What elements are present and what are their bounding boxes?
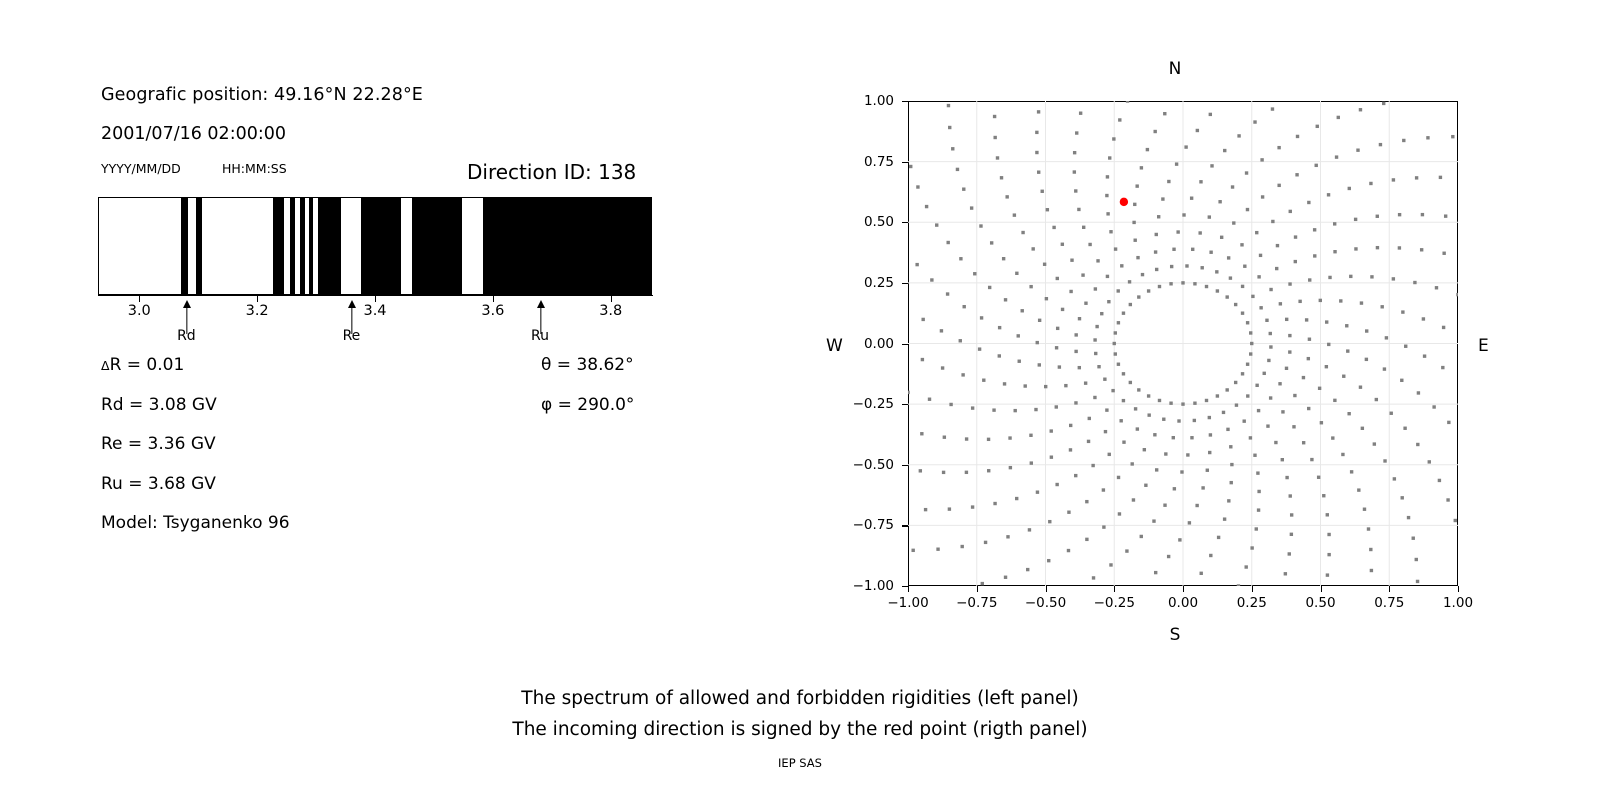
direction-dot xyxy=(1335,155,1338,158)
param-ru: Ru = 3.68 GV xyxy=(101,474,216,494)
direction-dot xyxy=(1006,535,1009,538)
x-axis-tick-label: −0.25 xyxy=(1094,595,1135,611)
direction-dot xyxy=(1447,421,1450,424)
forbidden-band xyxy=(273,197,284,295)
direction-dot xyxy=(1279,302,1282,305)
footer-text: IEP SAS xyxy=(0,756,1600,770)
direction-dot xyxy=(1117,321,1120,324)
direction-dot xyxy=(1070,259,1073,262)
direction-dot xyxy=(1029,434,1032,437)
direction-dot xyxy=(1227,499,1230,502)
direction-dot xyxy=(1439,176,1442,179)
direction-dot xyxy=(1021,231,1024,234)
direction-dot xyxy=(1401,310,1404,313)
incoming-direction-marker xyxy=(1120,198,1128,206)
direction-dot xyxy=(1230,463,1233,466)
direction-dot xyxy=(1222,411,1225,414)
direction-dot xyxy=(1432,405,1435,408)
direction-dot xyxy=(1084,381,1087,384)
direction-dot xyxy=(970,206,973,209)
direction-dot xyxy=(1134,239,1137,242)
direction-dot xyxy=(1225,388,1228,391)
direction-dot xyxy=(1288,350,1291,353)
direction-dot xyxy=(1091,464,1094,467)
direction-dot xyxy=(1246,208,1249,211)
direction-dot xyxy=(1401,496,1404,499)
direction-dot xyxy=(908,391,910,394)
direction-dot xyxy=(1356,148,1359,151)
x-axis-tick-label: 0.75 xyxy=(1374,595,1404,611)
direction-dot xyxy=(1177,419,1180,422)
direction-dot xyxy=(1209,251,1212,254)
x-axis-tick xyxy=(908,586,909,592)
direction-dot xyxy=(1024,384,1027,387)
direction-dot xyxy=(1319,299,1322,302)
direction-dot xyxy=(1328,276,1331,279)
direction-dot xyxy=(1288,552,1291,555)
direction-dot xyxy=(1350,470,1353,473)
direction-dot xyxy=(1163,112,1166,115)
direction-dot xyxy=(1038,363,1041,366)
direction-dot xyxy=(1021,309,1024,312)
direction-dot xyxy=(1005,195,1008,198)
direction-dot xyxy=(1137,295,1140,298)
direction-dot xyxy=(1205,285,1208,288)
direction-dot xyxy=(911,549,914,552)
scatter-canvas xyxy=(908,101,1458,586)
direction-dot xyxy=(1106,212,1109,215)
spectrum-tick-label: 3.2 xyxy=(246,303,269,319)
direction-dot xyxy=(1246,321,1249,324)
direction-dot xyxy=(1178,538,1181,541)
direction-dot xyxy=(1325,320,1328,323)
y-axis-tick-label: 0.50 xyxy=(830,214,894,230)
direction-dot xyxy=(996,156,999,159)
direction-dot xyxy=(1132,498,1135,501)
direction-dot xyxy=(1251,295,1254,298)
direction-dot xyxy=(1241,372,1244,375)
direction-dot xyxy=(1376,246,1379,249)
direction-dot xyxy=(1255,384,1258,387)
y-axis-tick xyxy=(902,101,908,102)
direction-dot xyxy=(1209,113,1212,116)
direction-dot xyxy=(1345,324,1348,327)
direction-dot xyxy=(1038,319,1041,322)
direction-dot xyxy=(1263,372,1266,375)
direction-dot xyxy=(1118,118,1121,121)
direction-dot xyxy=(1269,345,1272,348)
direction-dot xyxy=(1327,533,1330,536)
spectrum-marker-label-rd: Rd xyxy=(177,328,196,344)
direction-dot xyxy=(1381,305,1384,308)
direction-dot xyxy=(946,292,949,295)
direction-dot xyxy=(1271,220,1274,223)
direction-dot xyxy=(1456,293,1458,296)
direction-dot xyxy=(1035,131,1038,134)
direction-dot xyxy=(1243,419,1246,422)
direction-dot xyxy=(1015,497,1018,500)
direction-dot xyxy=(1201,266,1204,269)
direction-dot xyxy=(1316,125,1319,128)
direction-dot xyxy=(1361,427,1364,430)
direction-dot xyxy=(1044,385,1047,388)
direction-dot xyxy=(921,318,924,321)
direction-dot xyxy=(1031,247,1034,250)
direction-dot xyxy=(1103,378,1106,381)
gridline-group xyxy=(908,101,1458,586)
direction-dot xyxy=(1009,466,1012,469)
direction-dot xyxy=(1028,528,1031,531)
direction-dot xyxy=(1144,484,1147,487)
direction-dot xyxy=(1190,197,1193,200)
direction-dot xyxy=(1382,102,1385,105)
direction-dot xyxy=(1126,101,1129,103)
direction-dot xyxy=(1285,476,1288,479)
direction-dot xyxy=(1451,135,1454,138)
direction-dot xyxy=(1026,568,1029,571)
direction-dot xyxy=(1155,468,1158,471)
direction-dot xyxy=(1354,247,1357,250)
direction-dot xyxy=(1315,164,1318,167)
direction-dot xyxy=(1278,382,1281,385)
direction-dot xyxy=(1201,486,1204,489)
direction-dot xyxy=(1237,134,1240,137)
direction-dot xyxy=(1074,401,1077,404)
direction-dot xyxy=(1108,453,1111,456)
direction-dot xyxy=(1416,580,1419,583)
direction-dot xyxy=(1064,384,1067,387)
direction-dot xyxy=(1308,278,1311,281)
direction-dot xyxy=(1289,210,1292,213)
direction-dot xyxy=(1274,441,1277,444)
direction-dot xyxy=(1081,273,1084,276)
direction-dot xyxy=(1112,137,1115,140)
direction-dot xyxy=(1269,288,1272,291)
direction-dot xyxy=(1191,248,1194,251)
direction-dot xyxy=(1367,527,1370,530)
direction-dot xyxy=(1074,350,1077,353)
direction-dot xyxy=(1134,407,1137,410)
direction-dot xyxy=(956,168,959,171)
direction-dot xyxy=(1096,259,1099,262)
direction-dot xyxy=(1420,248,1423,251)
direction-dot xyxy=(1276,244,1279,247)
forbidden-band xyxy=(300,197,305,295)
direction-dot xyxy=(1196,129,1199,132)
direction-dot xyxy=(1256,471,1259,474)
direction-dot xyxy=(1158,285,1161,288)
direction-dot xyxy=(1266,424,1269,427)
direction-dot xyxy=(1326,573,1329,576)
direction-dot xyxy=(924,508,927,511)
direction-dot xyxy=(946,241,949,244)
caption-line-1: The spectrum of allowed and forbidden ri… xyxy=(0,688,1600,709)
direction-dot xyxy=(1200,572,1203,575)
x-axis-tick-label: −0.50 xyxy=(1025,595,1066,611)
direction-dot xyxy=(1035,151,1038,154)
direction-dot xyxy=(1296,135,1299,138)
direction-dot xyxy=(1073,170,1076,173)
y-axis-tick-label: 0.00 xyxy=(830,336,894,352)
direction-dot xyxy=(1267,359,1270,362)
direction-dot xyxy=(1357,488,1360,491)
direction-dot xyxy=(980,316,983,319)
direction-dot xyxy=(1073,151,1076,154)
direction-dot xyxy=(1036,341,1039,344)
direction-dot xyxy=(1094,287,1097,290)
direction-dot xyxy=(1094,352,1097,355)
direction-dot xyxy=(1097,365,1100,368)
direction-dot xyxy=(998,326,1001,329)
direction-dot xyxy=(1426,136,1429,139)
direction-dot xyxy=(1255,231,1258,234)
direction-dot xyxy=(951,147,954,150)
direction-dot xyxy=(1111,389,1114,392)
x-axis-tick xyxy=(1252,586,1253,592)
direction-dot xyxy=(1132,221,1135,224)
direction-dot xyxy=(1114,331,1117,334)
direction-dot xyxy=(1067,511,1070,514)
direction-dot xyxy=(1118,512,1121,515)
direction-dot xyxy=(1154,250,1157,253)
direction-dot xyxy=(1037,110,1040,113)
direction-dot xyxy=(1313,228,1316,231)
direction-dot xyxy=(1157,215,1160,218)
direction-dot xyxy=(1281,458,1284,461)
direction-dot xyxy=(1107,300,1110,303)
direction-dot xyxy=(928,398,931,401)
direction-dot xyxy=(1302,376,1305,379)
direction-id-text: Direction ID: 138 xyxy=(467,160,636,184)
direction-dot xyxy=(1143,448,1146,451)
direction-dot xyxy=(1281,410,1284,413)
direction-dot xyxy=(1146,148,1149,151)
direction-dot xyxy=(1205,399,1208,402)
direction-dot xyxy=(1390,412,1393,415)
direction-dot xyxy=(1398,213,1401,216)
direction-dot xyxy=(1106,275,1109,278)
direction-dot xyxy=(1333,222,1336,225)
y-axis-tick xyxy=(902,283,908,284)
direction-dot xyxy=(1232,221,1235,224)
direction-dot xyxy=(1373,442,1376,445)
direction-dot xyxy=(1348,187,1351,190)
direction-dot xyxy=(940,329,943,332)
direction-dot xyxy=(1220,236,1223,239)
direction-dot xyxy=(1141,273,1144,276)
direction-dot xyxy=(1379,143,1382,146)
direction-dot xyxy=(1084,302,1087,305)
direction-dot xyxy=(1167,555,1170,558)
direction-dot xyxy=(963,305,966,308)
direction-dot xyxy=(1208,215,1211,218)
x-axis-tick xyxy=(977,586,978,592)
direction-dot xyxy=(1307,201,1310,204)
direction-dot xyxy=(1229,276,1232,279)
spectrum-tick-label: 3.8 xyxy=(599,303,622,319)
direction-scatter-plot xyxy=(908,101,1458,586)
direction-dot xyxy=(1147,394,1150,397)
param-delta-r-value: R = 0.01 xyxy=(110,355,185,375)
direction-dot xyxy=(1333,250,1336,253)
direction-dot xyxy=(1181,402,1184,405)
direction-dot xyxy=(1133,203,1136,206)
x-axis-tick xyxy=(1183,586,1184,592)
arrow-head xyxy=(183,300,191,308)
direction-dot xyxy=(1322,494,1325,497)
direction-dot xyxy=(1369,548,1372,551)
direction-dot xyxy=(1140,535,1143,538)
arrow-head xyxy=(537,300,545,308)
direction-dot xyxy=(1363,508,1366,511)
spectrum-marker-label-re: Re xyxy=(343,328,361,344)
direction-dot xyxy=(1155,233,1158,236)
direction-dot xyxy=(1061,243,1064,246)
direction-dot xyxy=(1129,381,1132,384)
direction-dot xyxy=(1349,275,1352,278)
direction-dot xyxy=(1058,365,1061,368)
direction-dot xyxy=(1182,213,1185,216)
red-direction-point xyxy=(1120,198,1128,206)
direction-dot xyxy=(1170,265,1173,268)
direction-dot xyxy=(1295,173,1298,176)
x-axis-tick xyxy=(1321,586,1322,592)
direction-dot xyxy=(1245,565,1248,568)
direction-dot xyxy=(1403,427,1406,430)
direction-dot xyxy=(1253,120,1256,123)
direction-dot xyxy=(1153,130,1156,133)
spectrum-tick xyxy=(375,295,376,302)
direction-dot xyxy=(1346,349,1349,352)
date-format-hint: YYYY/MM/DD xyxy=(101,161,181,176)
direction-dot xyxy=(1085,500,1088,503)
direction-dot xyxy=(1085,538,1088,541)
x-axis-tick xyxy=(1114,586,1115,592)
forbidden-band xyxy=(290,197,295,295)
direction-dot xyxy=(1255,527,1258,530)
x-axis-tick-label: −0.75 xyxy=(956,595,997,611)
direction-dot xyxy=(1061,308,1064,311)
direction-dot xyxy=(1102,488,1105,491)
spectrum-tick-label: 3.6 xyxy=(481,303,504,319)
direction-dot xyxy=(961,545,964,548)
param-re: Re = 3.36 GV xyxy=(101,434,216,454)
direction-dot xyxy=(1441,366,1444,369)
spectrum-marker-label-ru: Ru xyxy=(531,328,549,344)
spectrum-tick xyxy=(257,295,258,302)
direction-dot xyxy=(1318,387,1321,390)
direction-dot xyxy=(1208,451,1211,454)
direction-dot xyxy=(1339,299,1342,302)
direction-dot xyxy=(961,373,964,376)
direction-dot xyxy=(1412,537,1415,540)
direction-dot xyxy=(1078,366,1081,369)
direction-dot xyxy=(1327,553,1330,556)
direction-dot xyxy=(1185,264,1188,267)
direction-dot xyxy=(1082,226,1085,229)
direction-dot xyxy=(1109,230,1112,233)
direction-dot xyxy=(1135,184,1138,187)
direction-dot xyxy=(959,339,962,342)
direction-dot xyxy=(1269,396,1272,399)
direction-dot xyxy=(948,507,951,510)
arrow-head xyxy=(348,300,356,308)
direction-dot xyxy=(1223,149,1226,152)
direction-dot xyxy=(1163,504,1166,507)
direction-dot xyxy=(1036,490,1039,493)
direction-dot xyxy=(1034,408,1037,411)
direction-dot xyxy=(1155,268,1158,271)
direction-dot xyxy=(1078,317,1081,320)
direction-dot xyxy=(1002,257,1005,260)
direction-dot xyxy=(1120,264,1123,267)
direction-dot xyxy=(916,185,919,188)
direction-dot xyxy=(1041,190,1044,193)
direction-dot xyxy=(984,541,987,544)
direction-dot xyxy=(1246,394,1249,397)
direction-dot xyxy=(1114,352,1117,355)
figure-canvas: Geografic position: 49.16°N 22.28°E 2001… xyxy=(0,0,1600,800)
direction-dot xyxy=(1206,469,1209,472)
direction-dot xyxy=(971,406,974,409)
direction-dot xyxy=(919,469,922,472)
direction-dot xyxy=(1293,394,1296,397)
direction-dot xyxy=(1162,418,1165,421)
direction-dot xyxy=(1092,576,1095,579)
direction-dot xyxy=(1209,554,1212,557)
delta-symbol: Δ xyxy=(101,358,110,373)
direction-dot xyxy=(1285,318,1288,321)
direction-dot xyxy=(1402,139,1405,142)
direction-dot xyxy=(1169,282,1172,285)
direction-dot xyxy=(930,278,933,281)
direction-dot xyxy=(1245,171,1248,174)
direction-dot xyxy=(1013,213,1016,216)
direction-dot xyxy=(1326,513,1329,516)
direction-dot xyxy=(1056,327,1059,330)
direction-dot xyxy=(947,104,950,107)
direction-dot xyxy=(1088,243,1091,246)
rigidity-spectrum-barcode xyxy=(98,197,652,295)
direction-dot xyxy=(1392,277,1395,280)
direction-dot xyxy=(1152,519,1155,522)
direction-dot xyxy=(1218,200,1221,203)
direction-dot xyxy=(1004,576,1007,579)
direction-dot xyxy=(921,358,924,361)
direction-dot xyxy=(1444,214,1447,217)
time-format-hint: HH:MM:SS xyxy=(222,161,287,176)
direction-dot xyxy=(1446,498,1449,501)
direction-dot xyxy=(1181,281,1184,284)
direction-dot xyxy=(1108,156,1111,159)
y-axis-tick xyxy=(902,404,908,405)
direction-dot xyxy=(1125,549,1128,552)
direction-dot xyxy=(1246,363,1249,366)
direction-dot xyxy=(1249,331,1252,334)
direction-dot xyxy=(1056,277,1059,280)
direction-dot xyxy=(1376,215,1379,218)
direction-dot xyxy=(1241,285,1244,288)
direction-dot xyxy=(948,126,951,129)
direction-dot xyxy=(1109,563,1112,566)
direction-dot xyxy=(1137,388,1140,391)
direction-dot xyxy=(1317,476,1320,479)
x-axis-tick xyxy=(1046,586,1047,592)
direction-dot xyxy=(1260,158,1263,161)
direction-dot xyxy=(1249,436,1252,439)
direction-dot xyxy=(1079,112,1082,115)
x-axis-tick xyxy=(1389,586,1390,592)
